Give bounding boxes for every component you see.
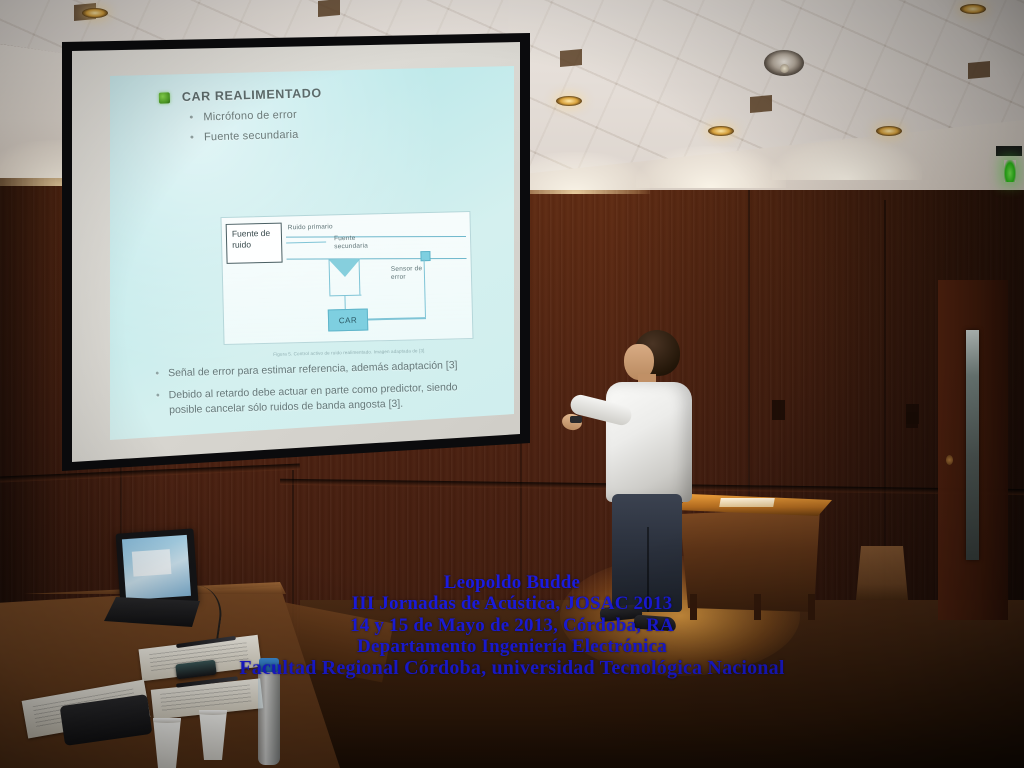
diagram-speaker-wire <box>344 295 346 309</box>
slide-bottom-bullets: • Señal de error para estimar referencia… <box>155 357 487 426</box>
slide-bottom-bullet: • Debido al retardo debe actuar en parte… <box>156 380 487 420</box>
ceiling-vent <box>750 95 772 113</box>
ceiling-downlight <box>708 126 734 136</box>
lectern-leg <box>754 594 761 620</box>
bullet-dot-icon: • <box>190 131 204 143</box>
slide-sub-bullet-label: Micrófono de error <box>203 109 297 124</box>
ceiling-vent <box>560 49 582 67</box>
slide-sub-bullet: •Micrófono de error <box>189 103 493 123</box>
water-bottle-cap <box>259 658 279 672</box>
bullet-dot-icon: • <box>156 389 161 420</box>
wall-switch-plate[interactable] <box>906 412 918 428</box>
slide-sub-bullet-label: Fuente secundaria <box>204 129 299 144</box>
slide-title-row: CAR REALIMENTADO <box>159 81 493 104</box>
ceiling-downlight <box>960 4 986 14</box>
lectern-paper <box>719 498 775 507</box>
lectern-leg <box>808 594 815 620</box>
ceiling-downlight <box>556 96 582 106</box>
slide-sub-bullet: •Fuente secundaria <box>190 123 494 143</box>
wall-outlet-plate[interactable] <box>772 400 785 420</box>
ceiling-smoke-detector <box>764 50 804 76</box>
diagram-car-label: CAR <box>339 315 358 324</box>
presentation-remote[interactable] <box>570 416 582 423</box>
ceiling-downlight <box>876 126 902 136</box>
waste-basket <box>856 546 908 600</box>
presenter <box>576 330 716 670</box>
diagram-secondary-speaker-icon <box>329 259 361 278</box>
diagram-noise-source-label: Fuente de ruido <box>232 228 271 250</box>
diagram-noise-source-box: Fuente de ruido <box>226 223 283 264</box>
presentation-slide: CAR REALIMENTADO •Micrófono de error •Fu… <box>110 66 514 440</box>
diagram-error-sensor-icon <box>420 251 430 261</box>
presenter-trousers <box>612 494 682 612</box>
diagram-duct-line <box>287 258 467 260</box>
slide-bottom-bullet-label: Debido al retardo debe actuar en parte c… <box>169 380 487 419</box>
slide-title: CAR REALIMENTADO <box>182 86 322 104</box>
presenter-shirt <box>606 382 692 502</box>
ceiling-downlight <box>82 8 108 18</box>
diagram-error-sensor-label: Sensor de error <box>391 265 435 283</box>
diagram-primary-noise-label: Ruido primario <box>288 223 333 231</box>
presenter-shoe <box>634 615 677 632</box>
diagram-car-controller-box: CAR <box>328 309 369 332</box>
diagram-arrow-line <box>286 241 326 243</box>
ceiling-vent <box>968 61 990 79</box>
bullet-dot-icon: • <box>155 367 159 382</box>
exit-sign <box>1004 160 1016 182</box>
water-bottle <box>258 665 280 765</box>
door-knob[interactable] <box>946 455 953 465</box>
screenshot-root: CAR REALIMENTADO •Micrófono de error •Fu… <box>0 0 1024 768</box>
bullet-dot-icon: • <box>189 111 203 123</box>
slide-diagram: Fuente de ruido Ruido primario Fuente se… <box>220 211 473 345</box>
green-square-bullet-icon <box>159 92 170 103</box>
diagram-feedback-line <box>364 317 426 320</box>
door-glass-panel <box>966 330 979 560</box>
cup-rim <box>196 710 230 715</box>
diagram-secondary-source-label: Fuente secundaria <box>334 234 380 252</box>
ceiling-vent <box>318 0 340 17</box>
exit-sign-hood <box>996 146 1022 156</box>
cup-rim <box>150 718 184 723</box>
